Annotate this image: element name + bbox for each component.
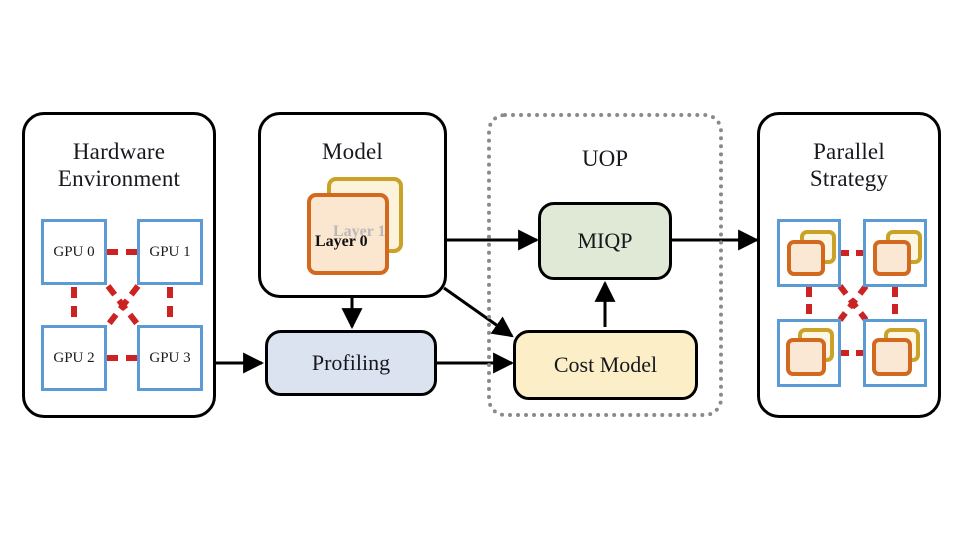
parallel-cell-1 xyxy=(863,219,927,287)
parallel-cell-3 xyxy=(863,319,927,387)
hardware-title-line2: Environment xyxy=(25,165,213,192)
gpu-cell-0: GPU 0 xyxy=(41,219,107,285)
parallel-cell-2-card-front xyxy=(786,338,826,376)
miqp-label: MIQP xyxy=(577,228,632,254)
parallel-cell-0-card-front xyxy=(787,240,825,276)
miqp-box[interactable]: MIQP xyxy=(538,202,672,280)
gpu-cell-3: GPU 3 xyxy=(137,325,203,391)
parallel-cell-3-card-front xyxy=(872,338,912,376)
parallel-title-line2: Strategy xyxy=(760,165,938,192)
cost-model-label: Cost Model xyxy=(554,352,657,378)
gpu-grid: GPU 0 GPU 1 GPU 2 GPU 3 xyxy=(39,217,205,392)
parallel-cell-2 xyxy=(777,319,841,387)
layer-label-0: Layer 0 xyxy=(315,233,368,251)
panel-hardware-environment: Hardware Environment GPU 0 GPU 1 xyxy=(22,112,216,418)
cost-model-box[interactable]: Cost Model xyxy=(513,330,698,400)
hardware-title-line1: Hardware xyxy=(25,138,213,165)
profiling-box[interactable]: Profiling xyxy=(265,330,437,396)
diagram-canvas: UOP Hardware Environment GPU 0 GPU 1 xyxy=(0,0,960,540)
gpu-label-0: GPU 0 xyxy=(53,244,94,261)
profiling-label: Profiling xyxy=(312,350,390,376)
panel-parallel-strategy: Parallel Strategy xyxy=(757,112,941,418)
parallel-title-line1: Parallel xyxy=(760,138,938,165)
panel-model: Model Layer 1 Layer 0 xyxy=(258,112,447,298)
gpu-cell-1: GPU 1 xyxy=(137,219,203,285)
parallel-gpu-grid xyxy=(777,219,927,387)
gpu-cell-2: GPU 2 xyxy=(41,325,107,391)
parallel-cell-1-card-front xyxy=(873,240,911,276)
gpu-label-1: GPU 1 xyxy=(149,244,190,261)
model-title: Model xyxy=(261,138,444,165)
parallel-cell-0 xyxy=(777,219,841,287)
gpu-label-3: GPU 3 xyxy=(149,350,190,367)
gpu-label-2: GPU 2 xyxy=(53,350,94,367)
model-layer-stack: Layer 1 Layer 0 xyxy=(301,177,411,281)
uop-label: UOP xyxy=(487,146,723,172)
